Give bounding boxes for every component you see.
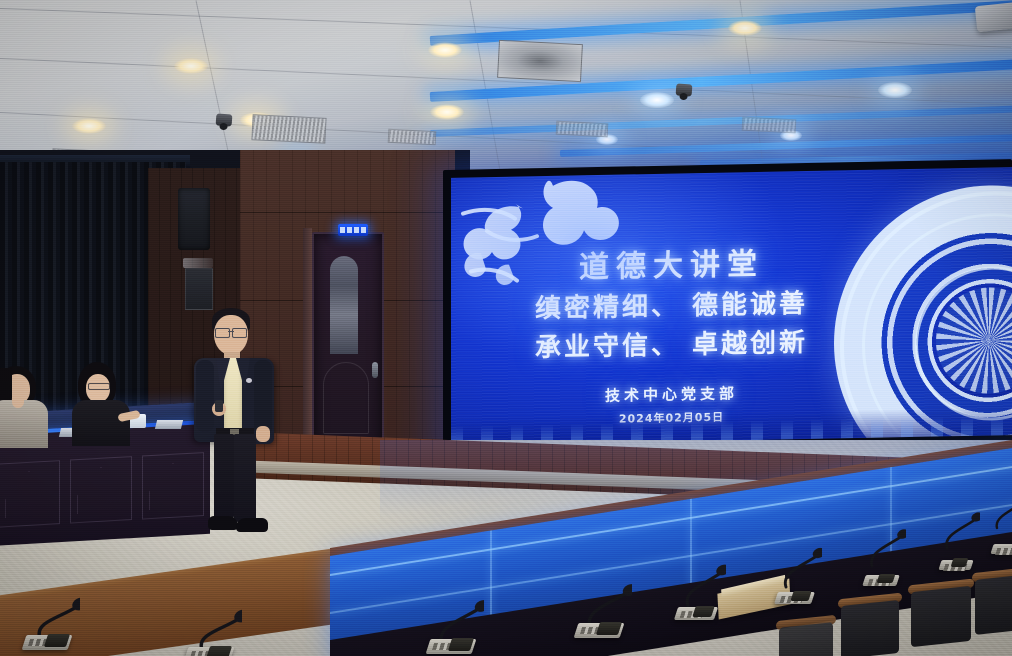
exit-sign-icon [338, 224, 368, 236]
ceiling-downlight [428, 42, 462, 58]
ceiling-led-strip [430, 105, 1012, 137]
ceiling-air-vent [556, 121, 609, 138]
ceiling-camera-icon [676, 83, 693, 96]
gooseneck-microphone-icon [768, 542, 832, 604]
ceiling [0, 0, 1012, 170]
ceiling-downlight [878, 82, 912, 98]
gooseneck-microphone-icon [16, 588, 80, 650]
name-plate [155, 420, 183, 429]
door-handle[interactable] [372, 362, 378, 378]
ceiling-downlight [728, 20, 762, 36]
seated-attendee [74, 362, 140, 444]
glasses [88, 383, 110, 390]
gooseneck-microphone-icon [178, 600, 242, 656]
screen-slogan-line-1: 缜密精细、 德能诚善 [451, 285, 892, 329]
gooseneck-microphone-icon [420, 592, 484, 654]
presentation-remote [215, 400, 223, 412]
conference-chair[interactable] [776, 615, 836, 656]
ceiling-air-vent [388, 129, 437, 145]
ceiling-downlight [430, 104, 464, 120]
ceiling-air-vent [251, 114, 326, 144]
screen-text-block: 道德大讲堂 缜密精细、 德能诚善 承业守信、 卓越创新 技术中心党支部 2024… [451, 241, 1012, 429]
shoe [236, 518, 268, 532]
conference-chair[interactable] [972, 567, 1012, 636]
screen-slogan-line-2: 承业守信、 卓越创新 [451, 324, 892, 368]
door-frame [303, 228, 312, 448]
gooseneck-microphone-icon [856, 524, 920, 586]
screen-organization: 技术中心党支部 [451, 379, 892, 408]
conference-hall-photo: 道德大讲堂 缜密精细、 德能诚善 承业守信、 卓越创新 技术中心党支部 2024… [0, 0, 1012, 656]
lapel-pin [246, 378, 252, 383]
ceiling-downlight [174, 58, 208, 74]
ceiling-downlight [640, 92, 674, 108]
door-window [330, 256, 358, 354]
presenter [186, 308, 284, 540]
shoe [208, 516, 238, 530]
wall-logo [183, 258, 213, 268]
door-arch-molding [323, 362, 369, 434]
wall-notice-sign [185, 268, 213, 310]
hand [256, 426, 270, 442]
screen-title: 道德大讲堂 [451, 243, 892, 289]
led-video-wall: 道德大讲堂 缜密精细、 德能诚善 承业守信、 卓越创新 技术中心党支部 2024… [443, 159, 1012, 456]
microphone-base [990, 544, 1012, 554]
ceiling-camera-icon [216, 113, 233, 126]
ceiling-downlight [72, 118, 106, 134]
glasses [215, 328, 247, 336]
gooseneck-microphone-icon [668, 558, 732, 620]
led-screen-surface: 道德大讲堂 缜密精细、 德能诚善 承业守信、 卓越创新 技术中心党支部 2024… [451, 167, 1012, 452]
ceiling-led-strip [430, 0, 1012, 46]
conference-chair[interactable] [838, 593, 902, 656]
ceiling-air-vent [742, 117, 797, 134]
conference-chair[interactable] [908, 579, 974, 648]
gooseneck-microphone-icon [984, 492, 1012, 554]
ceiling-air-diffuser [497, 40, 583, 82]
seated-attendee [0, 366, 60, 446]
exit-door[interactable] [312, 232, 384, 450]
wall-speaker-icon [178, 188, 210, 250]
gooseneck-microphone-icon [568, 576, 632, 638]
ceiling-projector-icon [975, 2, 1012, 32]
